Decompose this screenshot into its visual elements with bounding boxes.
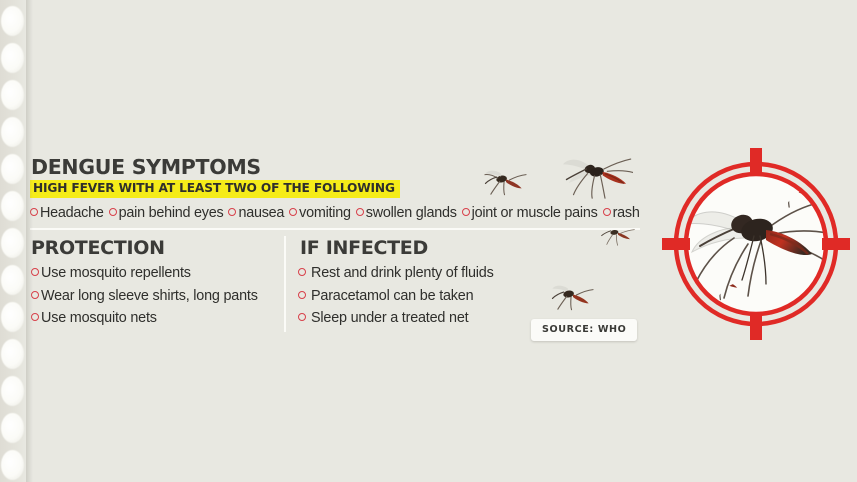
protection-item: Wear long sleeve shirts, long pants <box>31 285 258 308</box>
if-infected-list: Rest and drink plenty of fluidsParacetam… <box>298 262 494 330</box>
symptom-label: swollen glands <box>366 205 457 221</box>
mosquito-decoration-small-left <box>484 166 528 196</box>
mosquito-decoration-small-bottom <box>551 281 595 311</box>
infographic-content: DENGUE SYMPTOMS HIGH FEVER WITH AT LEAST… <box>0 0 857 482</box>
punch-hole <box>1 117 24 147</box>
punch-hole <box>1 302 24 332</box>
protection-item: Use mosquito repellents <box>31 262 258 285</box>
punch-hole <box>1 265 24 295</box>
punch-hole <box>1 228 24 258</box>
bullet-dot-icon <box>462 208 470 216</box>
mosquito-decoration-large-top <box>563 152 633 200</box>
crosshair-target-mosquito-icon <box>662 142 850 347</box>
if-infected-item-label: Rest and drink plenty of fluids <box>311 265 494 281</box>
punch-hole <box>1 43 24 73</box>
protection-item-label: Use mosquito nets <box>41 310 157 326</box>
punch-hole <box>1 376 24 406</box>
bullet-dot-icon <box>228 208 236 216</box>
punch-hole <box>1 450 24 480</box>
symptom-label: nausea <box>238 205 284 221</box>
bullet-dot-icon <box>298 291 306 299</box>
notebook-edge-shadow <box>26 0 33 482</box>
punch-hole <box>1 154 24 184</box>
symptom-item: joint or muscle pains <box>462 205 598 221</box>
bullet-dot-icon <box>298 268 306 276</box>
if-infected-item: Paracetamol can be taken <box>298 285 494 308</box>
symptom-list: Headachepain behind eyesnauseavomitingsw… <box>30 205 670 221</box>
if-infected-item-label: Paracetamol can be taken <box>311 288 473 304</box>
symptom-label: joint or muscle pains <box>472 205 598 221</box>
symptom-item: nausea <box>228 205 284 221</box>
symptom-item: rash <box>603 205 640 221</box>
if-infected-item: Rest and drink plenty of fluids <box>298 262 494 285</box>
punch-hole <box>1 6 24 36</box>
high-fever-highlight-banner: HIGH FEVER WITH AT LEAST TWO OF THE FOLL… <box>30 180 400 198</box>
symptom-label: pain behind eyes <box>119 205 224 221</box>
symptom-item: pain behind eyes <box>109 205 224 221</box>
symptom-item: Headache <box>30 205 104 221</box>
symptom-label: Headache <box>40 205 104 221</box>
punch-hole <box>1 413 24 443</box>
protection-item: Use mosquito nets <box>31 307 258 330</box>
bullet-dot-icon <box>356 208 364 216</box>
protection-list: Use mosquito repellentsWear long sleeve … <box>31 262 258 330</box>
bullet-dot-icon <box>298 313 306 321</box>
bullet-dot-icon <box>289 208 297 216</box>
symptom-item: swollen glands <box>356 205 457 221</box>
mosquito-decoration-tiny-right <box>600 221 636 247</box>
bullet-dot-icon <box>109 208 117 216</box>
protection-heading: PROTECTION <box>31 237 165 259</box>
symptom-label: vomiting <box>299 205 351 221</box>
protection-item-label: Use mosquito repellents <box>41 265 191 281</box>
if-infected-heading: IF INFECTED <box>300 237 428 259</box>
punch-hole <box>1 191 24 221</box>
symptoms-heading: DENGUE SYMPTOMS <box>31 155 261 179</box>
bullet-dot-icon <box>603 208 611 216</box>
symptom-item: vomiting <box>289 205 351 221</box>
if-infected-item: Sleep under a treated net <box>298 307 494 330</box>
punch-hole <box>1 80 24 110</box>
punch-hole <box>1 339 24 369</box>
vertical-divider <box>284 236 286 332</box>
horizontal-divider <box>30 228 640 230</box>
notebook-spiral-edge <box>0 0 26 482</box>
if-infected-item-label: Sleep under a treated net <box>311 310 468 326</box>
symptom-label: rash <box>613 205 640 221</box>
source-badge: SOURCE: WHO <box>531 319 637 341</box>
protection-item-label: Wear long sleeve shirts, long pants <box>41 288 258 304</box>
